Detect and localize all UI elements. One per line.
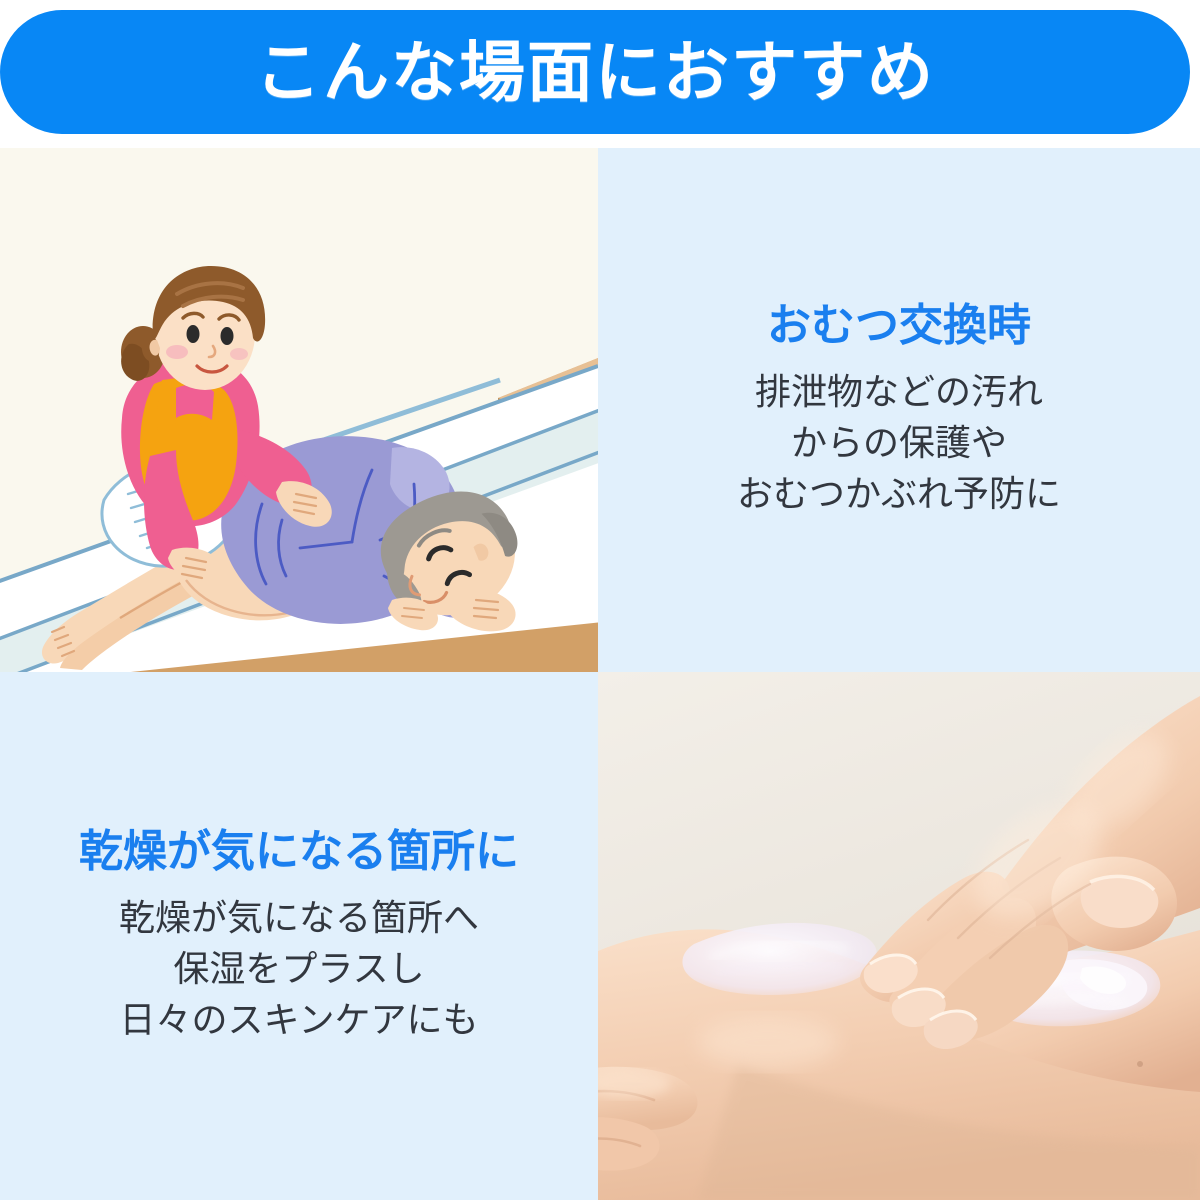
header-banner: こんな場面におすすめ xyxy=(0,10,1190,134)
panel-diaper-change-body: 排泄物などの汚れ からの保護や おむつかぶれ予防に xyxy=(737,366,1061,519)
panel-dryness-care: 乾燥が気になる箇所に 乾燥が気になる箇所へ 保湿をプラスし 日々のスキンケアにも xyxy=(0,672,598,1200)
panel-diaper-change-line-1: 排泄物などの汚れ xyxy=(737,366,1061,417)
panel-dryness-care-body: 乾燥が気になる箇所へ 保湿をプラスし 日々のスキンケアにも xyxy=(119,892,479,1045)
panel-diaper-change-heading: おむつ交換時 xyxy=(767,301,1031,352)
content-grid: おむつ交換時 排泄物などの汚れ からの保護や おむつかぶれ予防に 乾燥が気になる… xyxy=(0,148,1200,1200)
promotional-banner-page: こんな場面におすすめ xyxy=(0,0,1200,1200)
panel-dryness-care-line-2: 保湿をプラスし xyxy=(119,943,479,994)
header-banner-pill: こんな場面におすすめ xyxy=(0,10,1190,134)
caregiver-changing-diaper-illustration xyxy=(0,148,598,672)
panel-dryness-care-line-3: 日々のスキンケアにも xyxy=(119,994,479,1045)
panel-diaper-change-line-3: おむつかぶれ予防に xyxy=(737,468,1061,519)
hand-applying-cream-photo xyxy=(598,672,1200,1200)
panel-diaper-change-line-2: からの保護や xyxy=(737,417,1061,468)
panel-diaper-change: おむつ交換時 排泄物などの汚れ からの保護や おむつかぶれ予防に xyxy=(598,148,1200,672)
panel-dryness-care-line-1: 乾燥が気になる箇所へ xyxy=(119,892,479,943)
panel-dryness-care-heading: 乾燥が気になる箇所に xyxy=(79,827,519,878)
header-banner-title: こんな場面におすすめ xyxy=(255,39,935,105)
